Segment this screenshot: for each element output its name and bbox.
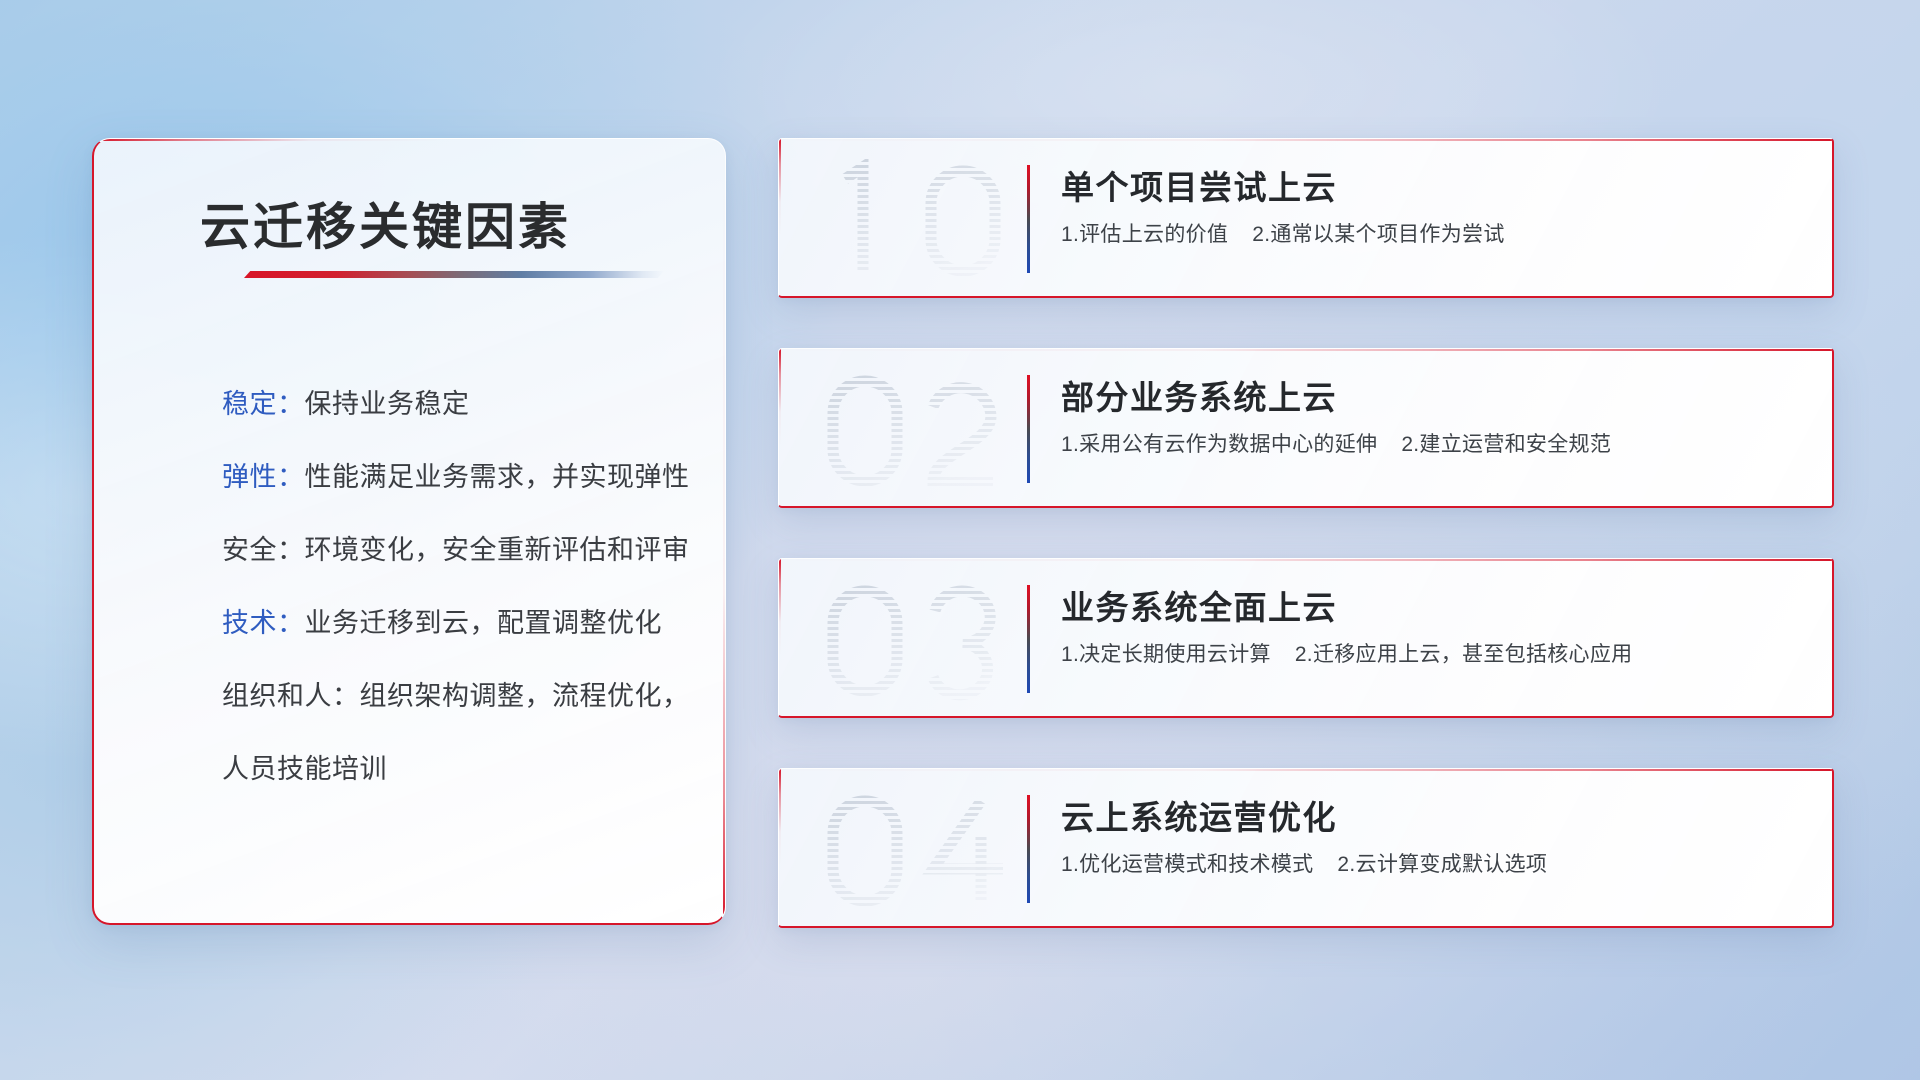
step-body-03: 业务系统全面上云 1.决定长期使用云计算2.迁移应用上云，甚至包括核心应用	[1061, 587, 1808, 669]
step-title-03: 业务系统全面上云	[1061, 587, 1808, 628]
factor-label-2: 安全：	[222, 535, 305, 565]
step-sub1-02: 1.采用公有云作为数据中心的延伸	[1061, 433, 1377, 456]
migration-steps-list: 单个项目尝试上云 1.评估上云的价值2.通常以某个项目作为尝试	[778, 138, 1834, 928]
step-accent-divider-02	[1027, 375, 1030, 483]
step-accent-divider-03	[1027, 585, 1030, 693]
step-sub1-01: 1.评估上云的价值	[1061, 223, 1228, 246]
step-sub2-01: 2.通常以某个项目作为尝试	[1252, 223, 1504, 246]
step-sub2-02: 2.建立运营和安全规范	[1401, 433, 1611, 456]
step-card-04[interactable]: 云上系统运营优化 1.优化运营模式和技术模式2.云计算变成默认选项	[778, 768, 1834, 928]
step-body-04: 云上系统运营优化 1.优化运营模式和技术模式2.云计算变成默认选项	[1061, 797, 1808, 879]
step-sub1-04: 1.优化运营模式和技术模式	[1061, 853, 1313, 876]
factor-label-3: 技术：	[222, 608, 305, 638]
factor-text-3: 业务迁移到云，配置调整优化	[305, 608, 663, 638]
factor-item-5: 人员技能培训	[222, 756, 695, 783]
title-underline-gradient	[244, 271, 664, 278]
factor-list: 稳定：保持业务稳定 弹性：性能满足业务需求，并实现弹性 安全：环境变化，安全重新…	[222, 391, 695, 783]
step-title-01: 单个项目尝试上云	[1061, 167, 1808, 208]
factor-text-5: 人员技能培训	[222, 754, 387, 784]
step-number-01-striped	[811, 153, 1029, 285]
step-card-01[interactable]: 单个项目尝试上云 1.评估上云的价值2.通常以某个项目作为尝试	[778, 138, 1834, 298]
factor-label-0: 稳定：	[222, 389, 305, 419]
step-subtitle-02: 1.采用公有云作为数据中心的延伸2.建立运营和安全规范	[1061, 431, 1808, 458]
factor-item-0: 稳定：保持业务稳定	[222, 391, 695, 418]
step-card-02[interactable]: 部分业务系统上云 1.采用公有云作为数据中心的延伸2.建立运营和安全规范	[778, 348, 1834, 508]
step-number-02-striped	[811, 363, 1029, 495]
key-factors-card: 云迁移关键因素 稳定：保持业务稳定 弹性：性能满足业务需求，并实现弹性 安全：环…	[92, 138, 726, 925]
step-number-04-striped	[811, 783, 1029, 915]
factor-text-1: 性能满足业务需求，并实现弹性	[305, 462, 690, 492]
step-sub2-04: 2.云计算变成默认选项	[1337, 853, 1547, 876]
step-body-02: 部分业务系统上云 1.采用公有云作为数据中心的延伸2.建立运营和安全规范	[1061, 377, 1808, 459]
step-title-04: 云上系统运营优化	[1061, 797, 1808, 838]
step-sub1-03: 1.决定长期使用云计算	[1061, 643, 1271, 666]
factor-text-0: 保持业务稳定	[305, 389, 470, 419]
step-card-03[interactable]: 业务系统全面上云 1.决定长期使用云计算2.迁移应用上云，甚至包括核心应用	[778, 558, 1834, 718]
step-title-02: 部分业务系统上云	[1061, 377, 1808, 418]
step-sub2-03: 2.迁移应用上云，甚至包括核心应用	[1295, 643, 1633, 666]
step-number-03-striped	[811, 573, 1029, 705]
step-subtitle-04: 1.优化运营模式和技术模式2.云计算变成默认选项	[1061, 851, 1808, 878]
factor-item-2: 安全：环境变化，安全重新评估和评审	[222, 537, 695, 564]
factor-text-4: 组织架构调整，流程优化，	[360, 681, 690, 711]
step-body-01: 单个项目尝试上云 1.评估上云的价值2.通常以某个项目作为尝试	[1061, 167, 1808, 249]
factor-text-2: 环境变化，安全重新评估和评审	[305, 535, 690, 565]
factor-item-1: 弹性：性能满足业务需求，并实现弹性	[222, 464, 695, 491]
step-accent-divider-04	[1027, 795, 1030, 903]
step-accent-divider-01	[1027, 165, 1030, 273]
factor-label-4: 组织和人：	[222, 681, 360, 711]
factor-item-4: 组织和人：组织架构调整，流程优化，	[222, 683, 695, 710]
step-subtitle-03: 1.决定长期使用云计算2.迁移应用上云，甚至包括核心应用	[1061, 641, 1808, 668]
factor-label-1: 弹性：	[222, 462, 305, 492]
page-title: 云迁移关键因素	[200, 187, 571, 259]
step-subtitle-01: 1.评估上云的价值2.通常以某个项目作为尝试	[1061, 221, 1808, 248]
factor-item-3: 技术：业务迁移到云，配置调整优化	[222, 610, 695, 637]
